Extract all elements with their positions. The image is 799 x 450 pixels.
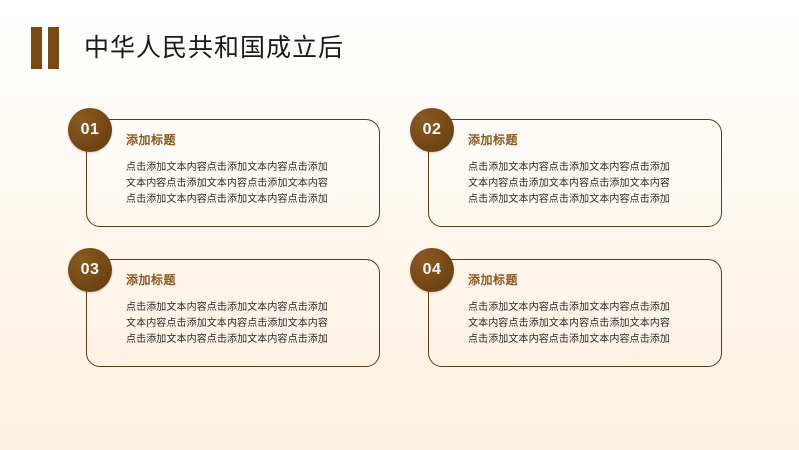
card-body-line: 点击添加文本内容点击添加文本内容点击添加 [126,192,364,208]
card-body-text: 点击添加文本内容点击添加文本内容点击添加 文本内容点击添加文本内容点击添加文本内… [126,160,364,208]
cards-grid: 01 添加标题 点击添加文本内容点击添加文本内容点击添加 文本内容点击添加文本内… [0,0,799,450]
card-title: 添加标题 [126,271,176,288]
card-number-label: 04 [410,248,454,292]
card-number-label: 03 [68,248,112,292]
card-body-line: 文本内容点击添加文本内容点击添加文本内容 [468,176,706,192]
card-number-badge: 03 [68,248,112,292]
card-body-line: 文本内容点击添加文本内容点击添加文本内容 [126,316,364,332]
card-body-line: 点击添加文本内容点击添加文本内容点击添加 [468,192,706,208]
card-body-line: 点击添加文本内容点击添加文本内容点击添加 [468,300,706,316]
card-body-text: 点击添加文本内容点击添加文本内容点击添加 文本内容点击添加文本内容点击添加文本内… [468,160,706,208]
card-title: 添加标题 [468,131,518,148]
content-card[interactable]: 02 添加标题 点击添加文本内容点击添加文本内容点击添加 文本内容点击添加文本内… [410,119,722,227]
card-body-line: 点击添加文本内容点击添加文本内容点击添加 [126,300,364,316]
card-body-line: 点击添加文本内容点击添加文本内容点击添加 [468,160,706,176]
card-body-text: 点击添加文本内容点击添加文本内容点击添加 文本内容点击添加文本内容点击添加文本内… [468,300,706,348]
card-title: 添加标题 [126,131,176,148]
card-body-line: 文本内容点击添加文本内容点击添加文本内容 [126,176,364,192]
content-card[interactable]: 04 添加标题 点击添加文本内容点击添加文本内容点击添加 文本内容点击添加文本内… [410,259,722,367]
card-title: 添加标题 [468,271,518,288]
card-body-line: 文本内容点击添加文本内容点击添加文本内容 [468,316,706,332]
card-body-line: 点击添加文本内容点击添加文本内容点击添加 [126,160,364,176]
card-number-badge: 01 [68,108,112,152]
card-number-badge: 02 [410,108,454,152]
content-card[interactable]: 01 添加标题 点击添加文本内容点击添加文本内容点击添加 文本内容点击添加文本内… [68,119,380,227]
content-card[interactable]: 03 添加标题 点击添加文本内容点击添加文本内容点击添加 文本内容点击添加文本内… [68,259,380,367]
card-number-label: 02 [410,108,454,152]
card-number-label: 01 [68,108,112,152]
card-body-text: 点击添加文本内容点击添加文本内容点击添加 文本内容点击添加文本内容点击添加文本内… [126,300,364,348]
card-number-badge: 04 [410,248,454,292]
card-body-line: 点击添加文本内容点击添加文本内容点击添加 [468,332,706,348]
slide-canvas: 中华人民共和国成立后 01 添加标题 点击添加文本内容点击添加文本内容点击添加 … [0,0,799,450]
card-body-line: 点击添加文本内容点击添加文本内容点击添加 [126,332,364,348]
